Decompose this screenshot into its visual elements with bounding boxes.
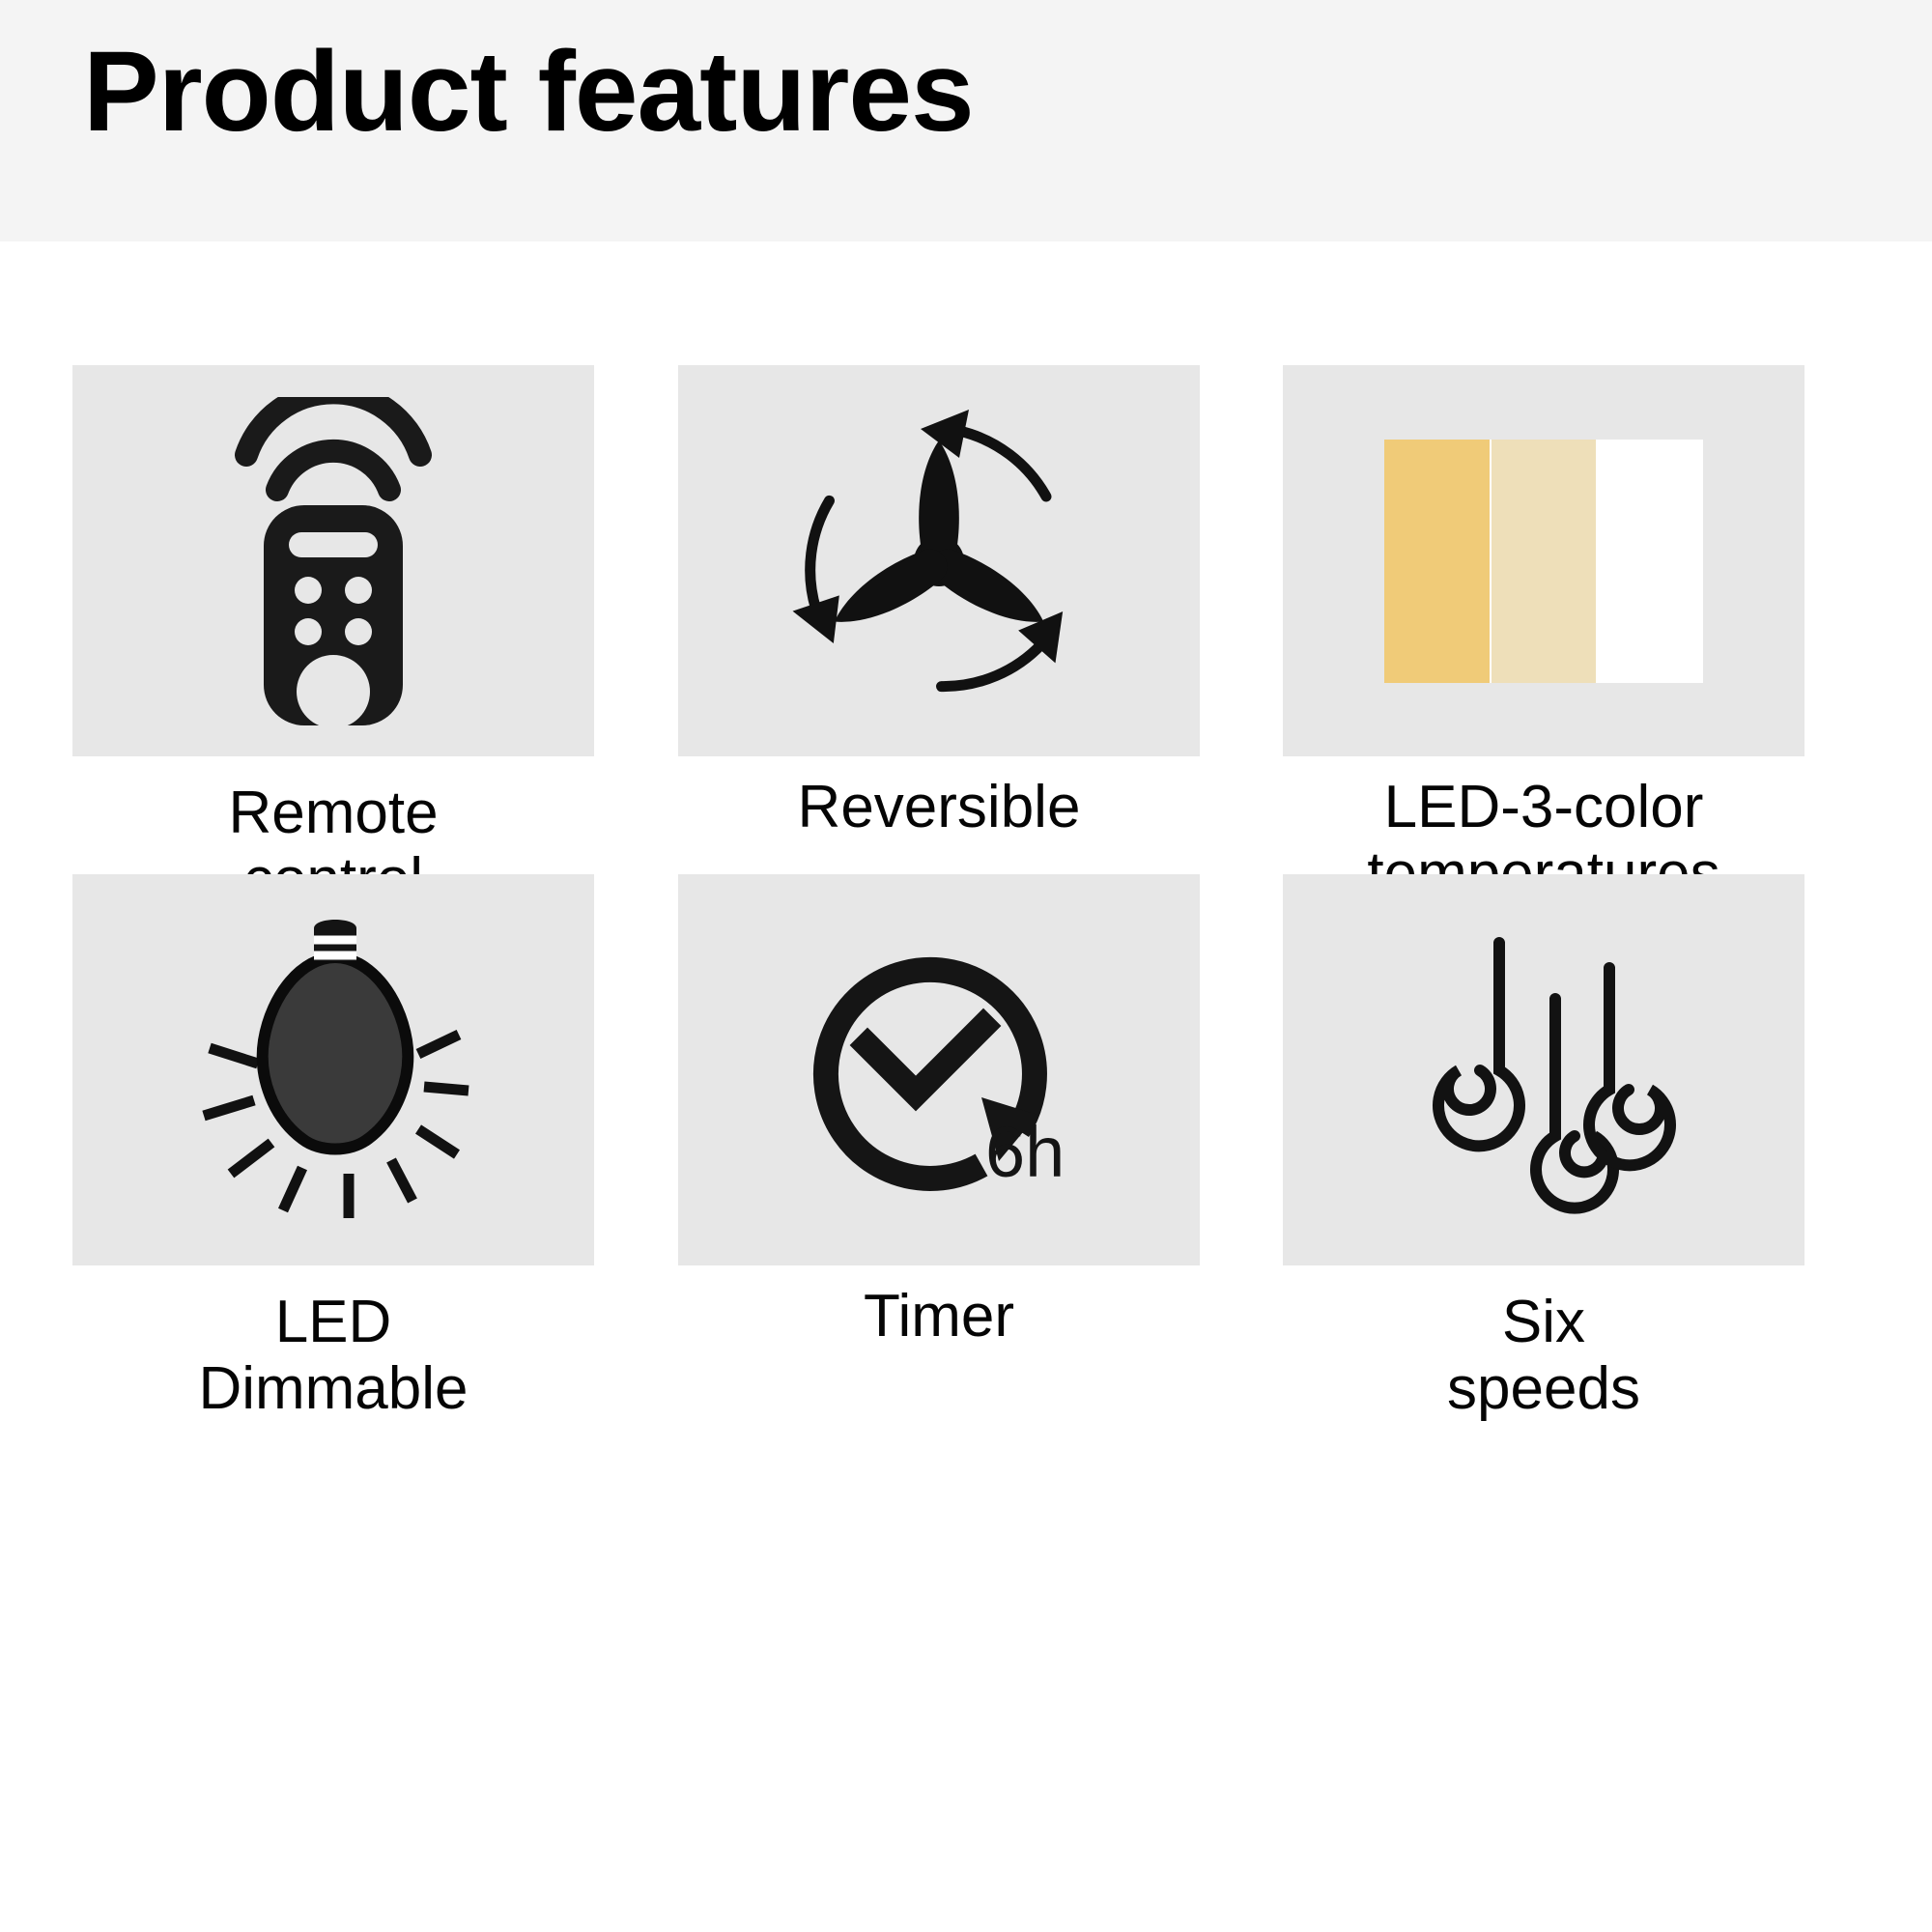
feature-led-dimmable[interactable]: LED Dimmable bbox=[72, 874, 594, 1423]
swatch-warm-white bbox=[1384, 440, 1490, 683]
feature-label: LED Dimmable bbox=[72, 1289, 594, 1423]
reversible-fan-icon bbox=[678, 365, 1200, 756]
features-grid: Remote control bbox=[0, 241, 1932, 1932]
remote-control-icon bbox=[72, 365, 594, 756]
feature-six-speeds[interactable]: Six speeds bbox=[1283, 874, 1804, 1423]
header-band: Product features bbox=[0, 0, 1932, 241]
feature-timer[interactable]: 6h Timer bbox=[678, 874, 1200, 1350]
feature-label: Six speeds bbox=[1283, 1289, 1804, 1423]
timer-icon: 6h bbox=[678, 874, 1200, 1265]
color-temperature-swatches-icon bbox=[1283, 365, 1804, 756]
feature-led-3-color-temperatures[interactable]: LED-3-color temperatures bbox=[1283, 365, 1804, 908]
swatch-neutral-white bbox=[1492, 440, 1597, 683]
page-title: Product features bbox=[83, 27, 974, 158]
feature-icon-tile bbox=[72, 365, 594, 756]
swatch-cool-white bbox=[1598, 440, 1703, 683]
feature-reversible[interactable]: Reversible bbox=[678, 365, 1200, 840]
feature-label: Reversible bbox=[678, 774, 1200, 840]
timer-duration-badge: 6h bbox=[985, 1112, 1065, 1192]
feature-icon-tile: 6h bbox=[678, 874, 1200, 1265]
feature-icon-tile bbox=[1283, 874, 1804, 1265]
feature-icon-tile bbox=[678, 365, 1200, 756]
feature-icon-tile bbox=[72, 874, 594, 1265]
feature-icon-tile bbox=[1283, 365, 1804, 756]
feature-remote-control[interactable]: Remote control bbox=[72, 365, 594, 914]
product-features-infographic: Product features bbox=[0, 0, 1932, 1932]
feature-label: Timer bbox=[678, 1283, 1200, 1350]
dimmable-bulb-icon bbox=[72, 874, 594, 1265]
airflow-speeds-icon bbox=[1283, 874, 1804, 1265]
